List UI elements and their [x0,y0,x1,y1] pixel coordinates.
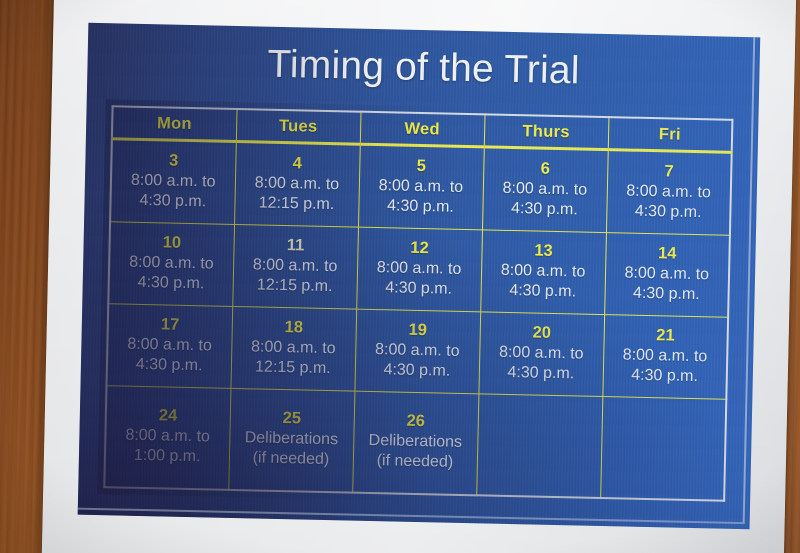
day-time-1: 8:00 a.m. to [110,334,229,357]
day-time-2: 12:15 p.m. [237,193,356,216]
paper-sheet: Timing of the Trial Mon Tues Wed Thurs F… [42,0,797,553]
trial-schedule-table: Mon Tues Wed Thurs Fri 3 8:00 a.m. to [103,105,733,501]
day-time-2: 4:30 p.m. [110,354,229,377]
day-time-2: 4:30 p.m. [481,362,600,385]
day-number: 24 [109,405,228,428]
day-time-2: 12:15 p.m. [235,275,354,298]
day-time-1: 8:00 a.m. to [483,260,602,283]
day-time-1: 8:00 a.m. to [237,173,356,196]
day-cell: 5 8:00 a.m. to 4:30 p.m. [358,144,484,230]
day-cell: 10 8:00 a.m. to 4:30 p.m. [108,222,234,307]
slide-title: Timing of the Trial [87,39,760,98]
day-number: 19 [358,319,477,342]
day-number: 18 [234,316,353,339]
day-number: 11 [236,234,355,257]
day-number: 13 [484,239,603,262]
column-header-mon: Mon [112,106,237,141]
day-note-1: Deliberations [232,428,351,451]
table-row: 3 8:00 a.m. to 4:30 p.m. 4 8:00 a.m. to … [110,139,732,236]
day-time-2: 4:30 p.m. [605,365,724,388]
day-cell: 17 8:00 a.m. to 4:30 p.m. [106,304,232,389]
day-time-1: 8:00 a.m. to [114,170,233,193]
day-cell-empty [600,397,726,501]
day-time-2: 4:30 p.m. [112,272,231,295]
day-cell: 7 8:00 a.m. to 4:30 p.m. [606,150,732,236]
day-number: 17 [111,313,230,336]
day-time-2: 4:30 p.m. [609,201,728,224]
day-time-2: 1:00 p.m. [108,446,227,469]
day-time-2: 4:30 p.m. [607,283,726,306]
day-time-2: 4:30 p.m. [485,198,604,221]
day-time-1: 8:00 a.m. to [607,263,726,286]
day-number: 14 [608,242,727,265]
day-note-2: (if needed) [355,451,474,474]
day-time-1: 8:00 a.m. to [485,178,604,201]
day-cell-empty [476,394,602,498]
photo-of-printed-slide: Timing of the Trial Mon Tues Wed Thurs F… [0,0,800,553]
day-time-1: 8:00 a.m. to [482,342,601,365]
day-time-1: 8:00 a.m. to [361,175,480,198]
day-number: 21 [606,324,725,347]
day-number [604,446,722,449]
day-time-2: 4:30 p.m. [357,359,476,382]
day-time-2: 12:15 p.m. [233,357,352,380]
day-cell: 18 8:00 a.m. to 12:15 p.m. [230,306,356,391]
column-header-thurs: Thurs [484,114,609,149]
day-time-1: 8:00 a.m. to [112,252,231,275]
day-time-1: 8:00 a.m. to [235,255,354,278]
day-number: 25 [232,407,351,430]
day-time-1: 8:00 a.m. to [234,336,353,359]
day-cell: 21 8:00 a.m. to 4:30 p.m. [602,315,728,400]
day-cell: 24 8:00 a.m. to 1:00 p.m. [104,386,230,490]
table-row: 17 8:00 a.m. to 4:30 p.m. 18 8:00 a.m. t… [106,304,728,400]
day-time-1: 8:00 a.m. to [108,425,227,448]
day-time-1: 8:00 a.m. to [609,181,728,204]
day-number: 4 [238,152,357,175]
day-time-2: 4:30 p.m. [359,278,478,301]
day-number: 12 [360,237,479,260]
day-cell: 20 8:00 a.m. to 4:30 p.m. [478,312,604,397]
day-cell: 12 8:00 a.m. to 4:30 p.m. [356,227,482,312]
day-time-1: 8:00 a.m. to [606,345,725,368]
day-time-2: 4:30 p.m. [361,196,480,219]
day-cell: 19 8:00 a.m. to 4:30 p.m. [354,309,480,394]
day-note-2: (if needed) [231,448,350,471]
day-cell: 13 8:00 a.m. to 4:30 p.m. [480,230,606,315]
table-body: 3 8:00 a.m. to 4:30 p.m. 4 8:00 a.m. to … [104,139,731,501]
day-number: 7 [610,160,729,183]
day-number [480,443,599,446]
table-row: 24 8:00 a.m. to 1:00 p.m. 25 Deliberatio… [104,386,726,501]
trial-schedule-table-wrapper: Mon Tues Wed Thurs Fri 3 8:00 a.m. to [103,105,733,501]
day-cell: 6 8:00 a.m. to 4:30 p.m. [482,147,608,233]
column-header-fri: Fri [608,117,733,152]
day-time-1: 8:00 a.m. to [359,257,478,280]
day-cell: 11 8:00 a.m. to 12:15 p.m. [232,224,358,309]
day-number: 3 [114,149,233,172]
day-number: 5 [362,155,481,178]
day-cell: 4 8:00 a.m. to 12:15 p.m. [234,141,360,227]
day-time-2: 4:30 p.m. [113,190,232,213]
day-cell: 3 8:00 a.m. to 4:30 p.m. [110,139,236,225]
day-time-1: 8:00 a.m. to [358,339,477,362]
day-cell: 26 Deliberations (if needed) [352,391,478,495]
day-time-2: 4:30 p.m. [483,280,602,303]
day-cell: 25 Deliberations (if needed) [228,388,354,492]
day-number: 6 [486,157,605,180]
day-number: 26 [356,410,475,433]
day-note-1: Deliberations [356,431,475,454]
column-header-wed: Wed [360,112,485,147]
presentation-slide: Timing of the Trial Mon Tues Wed Thurs F… [78,23,761,530]
day-number: 10 [112,231,231,254]
table-row: 10 8:00 a.m. to 4:30 p.m. 11 8:00 a.m. t… [108,222,730,318]
column-header-tues: Tues [236,109,361,144]
day-cell: 14 8:00 a.m. to 4:30 p.m. [604,233,730,318]
day-number: 20 [482,321,601,344]
